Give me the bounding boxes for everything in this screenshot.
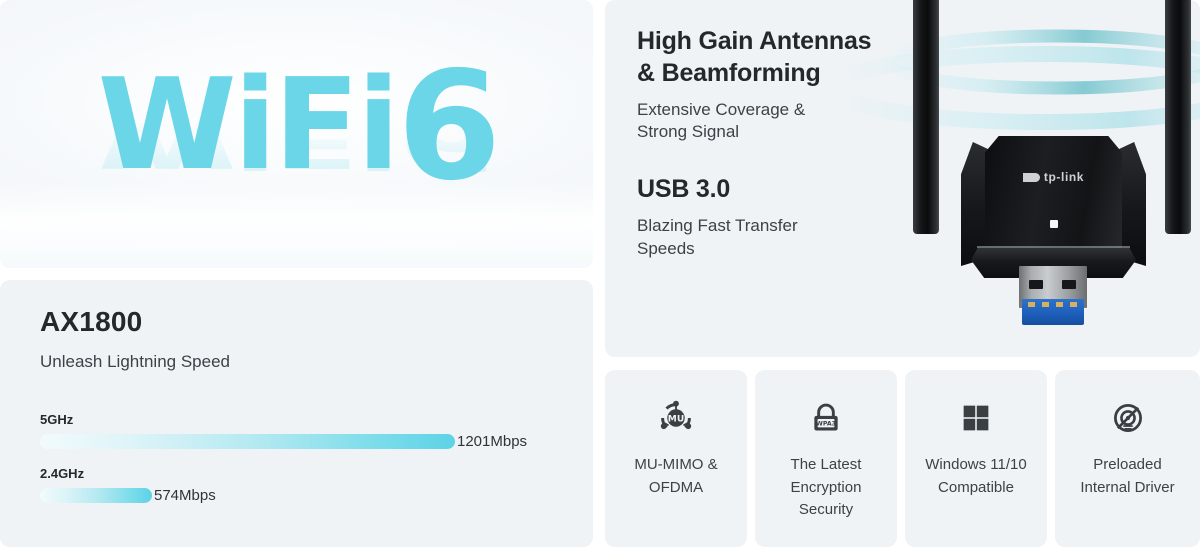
antenna-right	[1165, 0, 1191, 234]
no-cd-disc-icon	[1106, 396, 1150, 440]
usb-pin-1	[1028, 302, 1035, 307]
card-3-line2: Internal Driver	[1080, 477, 1174, 500]
usb-pin-2	[1042, 302, 1049, 307]
band-speed-chart: 5GHz 1201Mbps 2.4GHz 574Mbps	[40, 412, 553, 504]
usb-notch-right	[1062, 280, 1076, 289]
feature-card-wpa3-label: The Latest Encryption Security	[783, 454, 870, 522]
card-1-line2: Encryption	[791, 477, 862, 500]
feature-card-preloaded-driver-label: Preloaded Internal Driver	[1072, 454, 1182, 499]
feature-usb-body: Blazing Fast Transfer Speeds	[637, 215, 937, 260]
card-0-line1: MU-MIMO &	[634, 454, 717, 477]
usb-pin-4	[1070, 302, 1077, 307]
band-label-24ghz: 2.4GHz	[40, 466, 553, 481]
usb3-blue-insert	[1022, 299, 1084, 325]
feature-antennas-heading-line1: High Gain Antennas	[637, 26, 937, 58]
wifi6-word-text: WiFi	[98, 51, 397, 198]
feature-antennas-heading-line2: & Beamforming	[637, 58, 937, 90]
band-value-24ghz: 574Mbps	[154, 487, 216, 504]
band-value-5ghz: 1201Mbps	[457, 433, 527, 450]
feature-usb-heading: USB 3.0	[637, 174, 937, 206]
feature-card-mu-mimo-label: MU-MIMO & OFDMA	[626, 454, 725, 499]
feature-antennas-heading: High Gain Antennas & Beamforming	[637, 26, 937, 89]
adapter-body-front-face: tp-link	[985, 136, 1122, 254]
card-1-line3: Security	[791, 499, 862, 522]
feature-usb-body-line1: Blazing Fast Transfer	[637, 215, 937, 237]
windows-logo-icon	[954, 396, 998, 440]
feature-card-preloaded-driver[interactable]: Preloaded Internal Driver	[1055, 370, 1200, 547]
card-3-line1: Preloaded	[1080, 454, 1174, 477]
feature-text-block: High Gain Antennas & Beamforming Extensi…	[637, 26, 937, 260]
feature-antennas-body-line1: Extensive Coverage &	[637, 99, 937, 121]
band-row-5ghz: 5GHz 1201Mbps	[40, 412, 553, 450]
wpa3-lock-icon: WPA3	[804, 396, 848, 440]
wifi6-logo: WiFi6	[0, 52, 593, 202]
feature-card-mu-mimo[interactable]: MU MU-MIMO & OFDMA	[605, 370, 747, 547]
usb-notch-left	[1029, 280, 1043, 289]
tp-link-logo: tp-link	[985, 170, 1122, 184]
feature-antennas: High Gain Antennas & Beamforming Extensi…	[637, 26, 937, 144]
feature-card-windows-label: Windows 11/10 Compatible	[917, 454, 1034, 499]
tp-link-wordmark: tp-link	[1044, 170, 1084, 184]
wifi6-hero-panel: WiFi6 WiFi6	[0, 0, 593, 268]
feature-antennas-body-line2: Strong Signal	[637, 121, 937, 143]
svg-text:MU: MU	[668, 415, 684, 425]
product-feature-banner: WiFi6 WiFi6 AX1800 Unleash Lightning Spe…	[0, 0, 1200, 547]
card-1-line1: The Latest	[791, 454, 862, 477]
feature-usb: USB 3.0 Blazing Fast Transfer Speeds	[637, 174, 937, 260]
feature-card-wpa3[interactable]: WPA3 The Latest Encryption Security	[755, 370, 897, 547]
adapter-body: tp-link	[961, 136, 1146, 281]
mu-mimo-icon: MU	[654, 396, 698, 440]
wifi6-six-text: 6	[397, 40, 495, 214]
band-bar-24ghz	[40, 488, 152, 503]
ax1800-title: AX1800	[40, 306, 553, 338]
feature-antennas-body: Extensive Coverage & Strong Signal	[637, 99, 937, 144]
feature-card-windows[interactable]: Windows 11/10 Compatible	[905, 370, 1047, 547]
card-2-line1: Windows 11/10	[925, 454, 1026, 477]
feature-usb-body-line2: Speeds	[637, 238, 937, 260]
band-row-24ghz: 2.4GHz 574Mbps	[40, 466, 553, 504]
adapter-body-seam	[977, 246, 1130, 248]
usb-pin-3	[1056, 302, 1063, 307]
status-led-indicator	[1050, 220, 1058, 228]
svg-text:WPA3: WPA3	[816, 420, 836, 427]
band-label-5ghz: 5GHz	[40, 412, 553, 427]
usb-wifi-adapter-image: tp-link	[905, 0, 1200, 341]
antenna-usb-feature-panel: tp-link High Gain Antenn	[605, 0, 1200, 357]
card-2-line2: Compatible	[925, 477, 1026, 500]
band-bar-5ghz	[40, 434, 455, 449]
ax1800-subtitle: Unleash Lightning Speed	[40, 352, 553, 372]
ax1800-speed-panel: AX1800 Unleash Lightning Speed 5GHz 1201…	[0, 280, 593, 547]
tp-link-mark-icon	[1023, 173, 1040, 182]
card-0-line2: OFDMA	[634, 477, 717, 500]
